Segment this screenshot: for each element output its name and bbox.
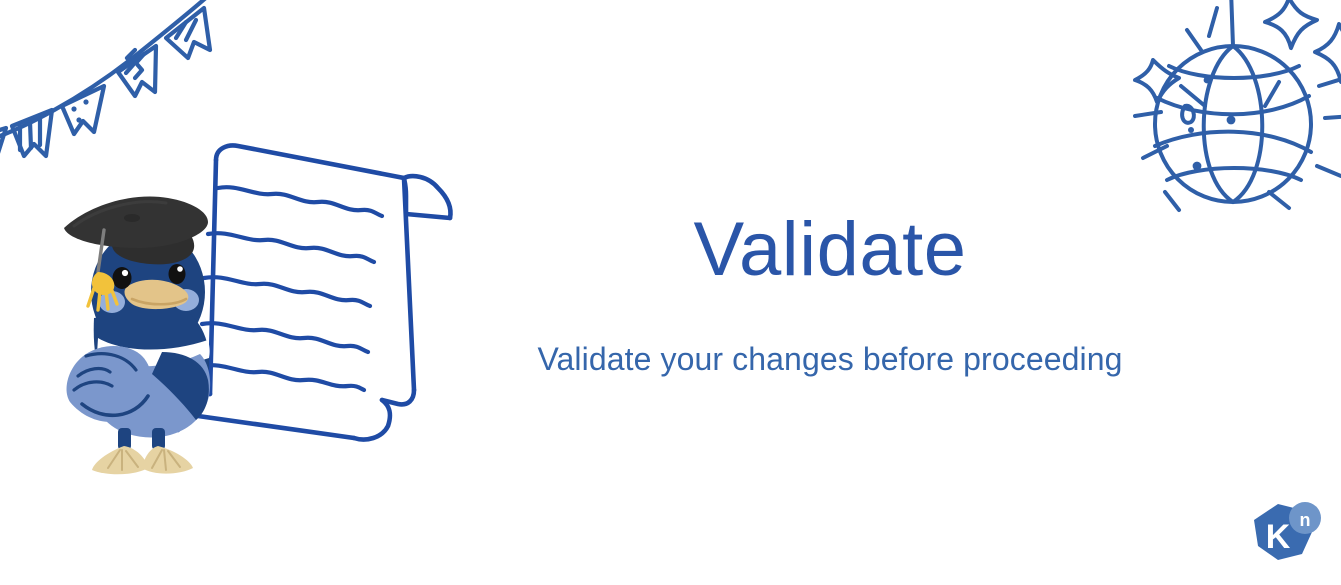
logo-letter-n: n [1300,510,1311,530]
logo-letter-k: K [1266,518,1291,556]
hero-text-block: Validate Validate your changes before pr… [462,212,1198,377]
party-bunting-banner [0,0,230,182]
certificate-scroll [176,138,462,454]
graduate-duck-mascot [56,190,246,478]
page-subtitle: Validate your changes before proceeding [462,342,1198,377]
kn-logo-badge[interactable]: K n [1248,500,1324,572]
slide-canvas: Validate Validate your changes before pr… [0,0,1341,585]
disco-ball [1113,0,1341,234]
page-title: Validate [462,212,1198,288]
